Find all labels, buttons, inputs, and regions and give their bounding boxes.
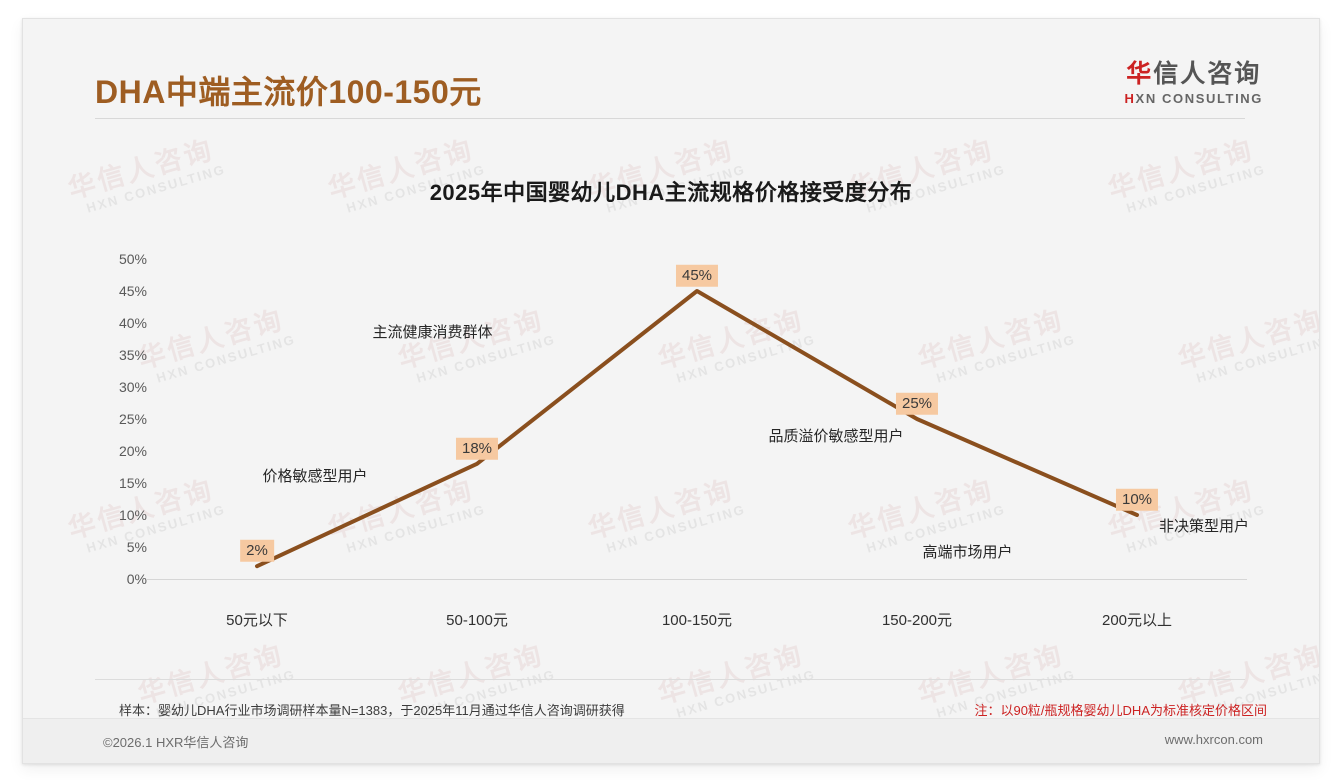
y-axis-tick: 15% [119, 475, 147, 491]
data-point-label: 2% [240, 540, 274, 562]
y-axis-tick: 45% [119, 283, 147, 299]
methodology-note: 注：以90粒/瓶规格婴幼儿DHA为标准核定价格区间 [974, 700, 1267, 719]
y-axis-tick: 30% [119, 379, 147, 395]
logo-accent-char: 华 [1126, 60, 1153, 88]
slide-root: 华信人咨询HXN CONSULTING华信人咨询HXN CONSULTING华信… [0, 0, 1340, 780]
data-point-label: 18% [456, 438, 498, 460]
data-point-label: 10% [1116, 489, 1158, 511]
data-point-label: 25% [896, 393, 938, 415]
watermark: 华信人咨询HXN CONSULTING [653, 631, 817, 724]
x-axis-tick: 50元以下 [226, 609, 288, 630]
watermark-chinese: 华信人咨询 [653, 631, 814, 712]
website-link[interactable]: www.hxrcon.com [1165, 732, 1263, 747]
x-axis-tick: 200元以上 [1102, 609, 1172, 630]
chart-annotation: 高端市场用户 [923, 541, 1013, 562]
logo-en-accent-char: H [1125, 91, 1136, 106]
chart-annotation: 主流健康消费群体 [373, 321, 493, 342]
chart-annotation: 品质溢价敏感型用户 [769, 425, 904, 446]
logo-english-text: HXN CONSULTING [1125, 91, 1263, 106]
bottom-bar: ©2026.1 HXR华信人咨询 www.hxrcon.com [23, 718, 1319, 763]
y-axis-tick: 40% [119, 315, 147, 331]
y-axis-tick: 10% [119, 507, 147, 523]
y-axis-labels: 0%5%10%15%20%25%30%35%40%45%50% [95, 259, 147, 579]
chart-plot-area: 0%5%10%15%20%25%30%35%40%45%50% 2%18%45%… [95, 259, 1255, 639]
page-title: DHA中端主流价100-150元 [95, 67, 482, 113]
x-axis-tick: 150-200元 [882, 609, 952, 630]
footer-divider [95, 679, 1245, 680]
x-axis-line [147, 579, 1247, 580]
y-axis-tick: 35% [119, 347, 147, 363]
line-chart-svg [147, 259, 1247, 579]
x-axis-tick: 50-100元 [446, 609, 508, 630]
header-divider [95, 118, 1245, 119]
y-axis-tick: 0% [127, 571, 147, 587]
watermark-english: HXN CONSULTING [675, 667, 818, 721]
copyright-text: ©2026.1 HXR华信人咨询 [103, 732, 248, 751]
logo-chinese-text: 华信人咨询 [1125, 61, 1263, 89]
slide-card: 华信人咨询HXN CONSULTING华信人咨询HXN CONSULTING华信… [22, 18, 1320, 764]
logo-en-rest: XN CONSULTING [1136, 91, 1263, 106]
chart-annotation: 价格敏感型用户 [263, 465, 368, 486]
y-axis-tick: 25% [119, 411, 147, 427]
y-axis-tick: 20% [119, 443, 147, 459]
company-logo: 华信人咨询 HXN CONSULTING [1125, 61, 1263, 106]
y-axis-tick: 50% [119, 251, 147, 267]
x-axis-tick: 100-150元 [662, 609, 732, 630]
data-point-label: 45% [676, 265, 718, 287]
y-axis-tick: 5% [127, 539, 147, 555]
line-series-canvas [147, 259, 1247, 579]
slide-header: DHA中端主流价100-150元 华信人咨询 HXN CONSULTING [23, 19, 1319, 115]
logo-chinese-rest: 信人咨询 [1153, 60, 1261, 88]
sample-note: 样本：婴幼儿DHA行业市场调研样本量N=1383，于2025年11月通过华信人咨… [119, 700, 625, 719]
chart-annotation: 非决策型用户 [1159, 515, 1249, 536]
chart-title: 2025年中国婴幼儿DHA主流规格价格接受度分布 [23, 175, 1319, 207]
